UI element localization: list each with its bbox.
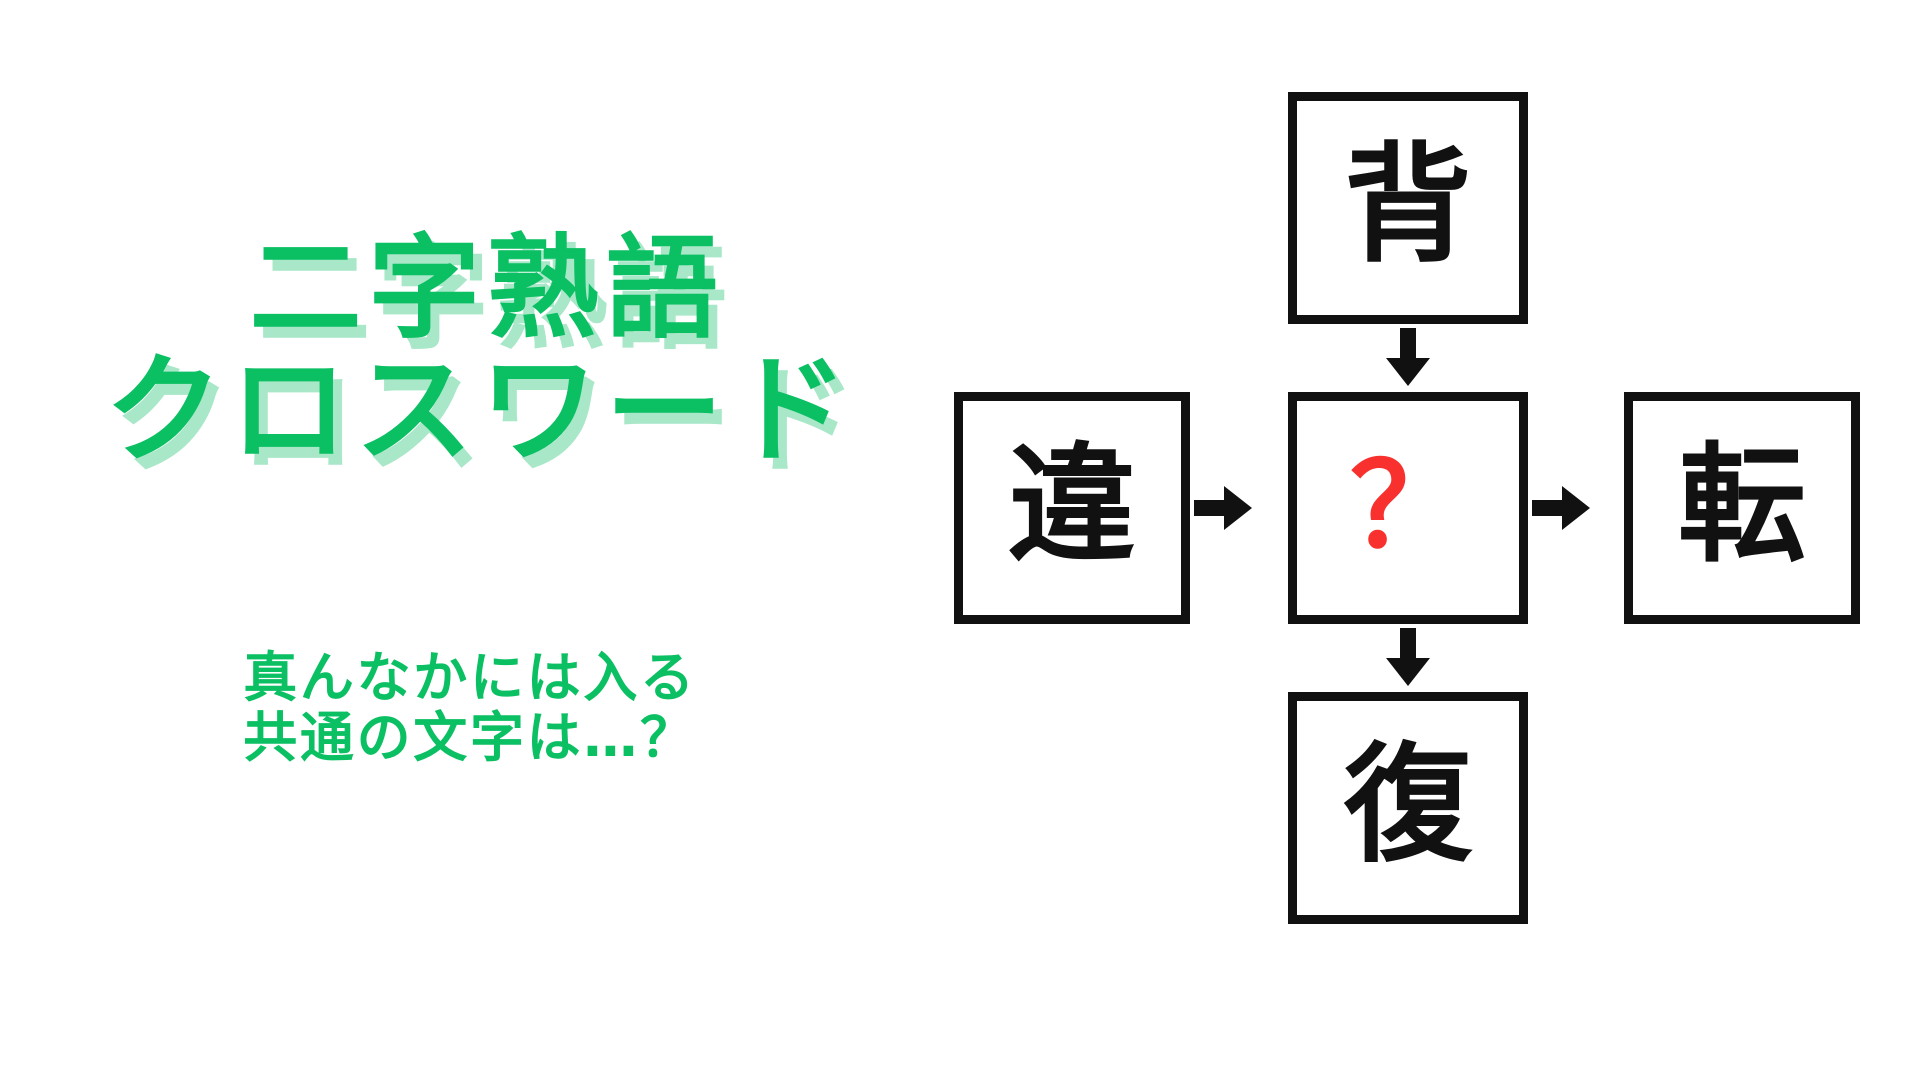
title-block: 二字熟語 クロスワード xyxy=(0,232,960,471)
puzzle-cell-right: 転 xyxy=(1624,392,1860,624)
arrow-down-icon xyxy=(1378,328,1438,388)
puzzle-cell-left: 違 xyxy=(954,392,1190,624)
page-title-line-1: 二字熟語 xyxy=(14,232,960,346)
puzzle-cell-top-char: 背 xyxy=(1344,142,1472,270)
puzzle-cell-bottom-char: 復 xyxy=(1344,742,1472,870)
arrow-down-icon xyxy=(1378,628,1438,688)
puzzle-cell-center[interactable]: ？ xyxy=(1288,392,1528,624)
puzzle-cell-right-char: 転 xyxy=(1678,442,1806,570)
subtitle-line-1: 真んなかには入る xyxy=(0,648,940,708)
slide-canvas: 二字熟語 クロスワード 真んなかには入る 共通の文字は…？ 背 違 xyxy=(0,0,1920,1080)
puzzle-cell-left-char: 違 xyxy=(1008,442,1136,570)
subtitle-block: 真んなかには入る 共通の文字は…？ xyxy=(0,648,940,769)
arrow-right-icon xyxy=(1532,478,1592,538)
puzzle-cell-bottom: 復 xyxy=(1288,692,1528,924)
crossword-diagram: 背 違 ？ 転 xyxy=(960,0,1920,1080)
page-title-line-2: クロスワード xyxy=(0,350,960,470)
arrow-right-icon xyxy=(1194,478,1254,538)
subtitle-line-2: 共通の文字は…？ xyxy=(0,708,940,768)
puzzle-cell-center-char: ？ xyxy=(1350,448,1466,564)
puzzle-cell-top: 背 xyxy=(1288,92,1528,324)
